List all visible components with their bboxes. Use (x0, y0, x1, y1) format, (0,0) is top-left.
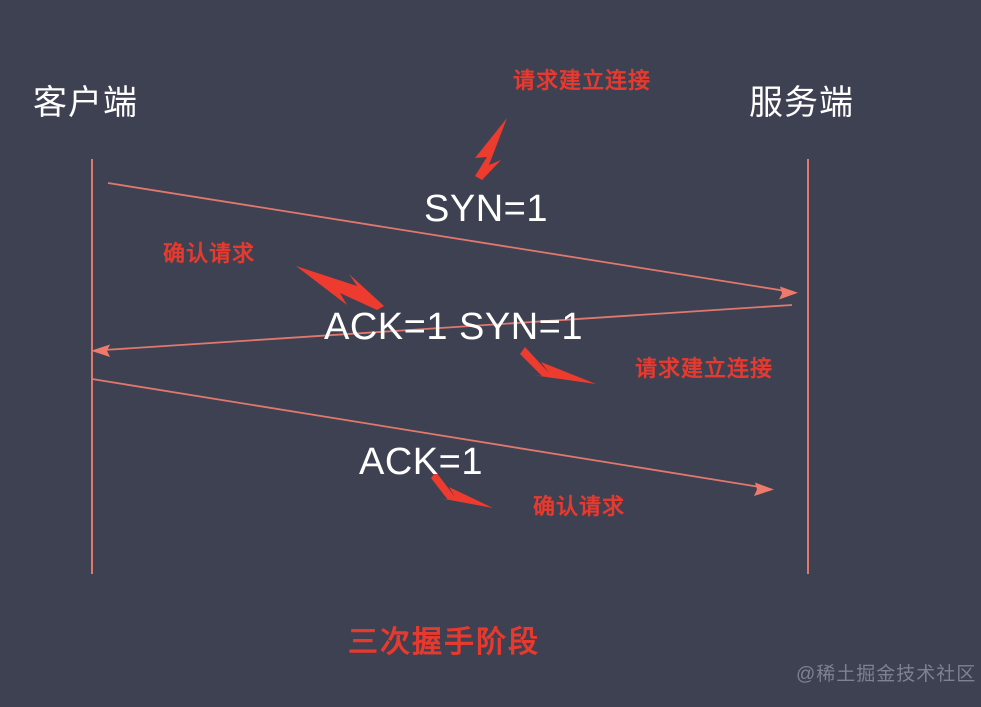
message-arrowhead-ack-syn (91, 345, 110, 358)
phase-caption: 三次握手阶段 (348, 628, 540, 658)
client-label: 客户端 (33, 86, 138, 120)
server-label: 服务端 (749, 86, 854, 120)
watermark: @稀土掘金技术社区 (796, 665, 976, 684)
packet-label-ack: ACK=1 (359, 443, 483, 481)
annotation-label-top-request: 请求建立连接 (513, 70, 651, 92)
annotation-label-bottom-confirm: 确认请求 (533, 496, 625, 518)
packet-label-ack-syn: ACK=1 SYN=1 (324, 308, 583, 346)
packet-label-syn: SYN=1 (424, 190, 548, 228)
annotation-arrow-left (296, 266, 384, 310)
annotation-label-right-request: 请求建立连接 (635, 358, 773, 380)
annotation-arrow-right (520, 347, 596, 384)
message-arrowhead-syn (779, 287, 798, 300)
message-arrowhead-ack (754, 483, 774, 497)
annotation-arrow-top (475, 118, 507, 180)
diagram-canvas: 客户端 服务端 SYN=1 ACK=1 SYN=1 ACK=1 请求建立连接 确… (0, 0, 981, 707)
annotation-label-left-confirm: 确认请求 (163, 243, 255, 265)
